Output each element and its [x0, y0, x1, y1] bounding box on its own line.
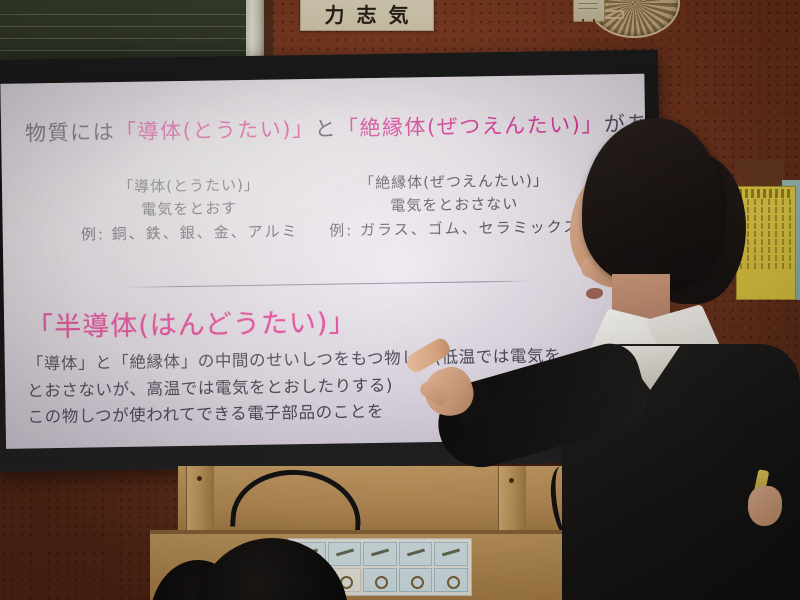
chart-row	[740, 231, 792, 237]
semiconductor-heading: 「半導体(はんどうたい)」	[26, 300, 357, 344]
chart-row	[740, 215, 792, 221]
cart-screw	[197, 476, 202, 481]
tool-icon	[335, 549, 353, 557]
chart-row	[740, 223, 792, 229]
chalk-line	[0, 14, 252, 15]
chart-row	[740, 263, 792, 269]
conductor-examples: 例: 銅、鉄、銀、金、アルミ	[65, 219, 315, 246]
column-conductor: 「導体(とうたい)」 電気をとおす 例: 銅、鉄、銀、金、アルミ	[64, 173, 315, 247]
posted-paper	[640, 508, 728, 558]
calligraphy-banner: 力 志 気	[300, 0, 434, 31]
title-keyword-insulator: 「絶縁体(ぜつえんたい)」	[337, 112, 604, 140]
circle-icon	[375, 576, 388, 589]
fan-control-box	[573, 0, 605, 22]
title-middle: と	[314, 117, 337, 141]
insulator-examples: 例: ガラス、ゴム、セラミックス	[315, 215, 595, 243]
title-prefix: 物質には	[25, 120, 115, 145]
picture-cell	[399, 542, 433, 566]
student-hand	[748, 486, 782, 526]
column-insulator: 「絶縁体(ぜつえんたい)」 電気をとおさない 例: ガラス、ゴム、セラミックス	[314, 169, 595, 243]
picture-cell	[434, 568, 468, 592]
classroom-photo: 力 志 気 物質には「導体(とうたい)」と「絶縁体(ぜつえんたい)」があります …	[0, 0, 800, 600]
chalk-line	[0, 26, 252, 27]
title-suffix: があります	[604, 111, 650, 137]
yellow-wall-chart	[736, 186, 796, 300]
slide-divider	[130, 281, 528, 288]
title-keyword-conductor: 「導体(とうたい)」	[115, 117, 315, 144]
display-screen: 物質には「導体(とうたい)」と「絶縁体(ぜつえんたい)」があります 「導体(とう…	[0, 74, 650, 449]
presentation-slide: 物質には「導体(とうたい)」と「絶縁体(ぜつえんたい)」があります 「導体(とう…	[0, 74, 650, 449]
chart-row	[740, 207, 792, 213]
picture-cell	[328, 542, 362, 566]
tool-icon	[371, 549, 389, 557]
picture-cell	[363, 568, 397, 592]
chart-row	[740, 255, 792, 261]
chalk-line	[0, 38, 252, 39]
banner-char-2: 志	[357, 0, 378, 28]
tool-icon	[442, 549, 460, 557]
chart-row	[740, 199, 792, 205]
banner-char-1: 力	[325, 0, 346, 28]
stamp-icon	[674, 523, 698, 547]
wall-panel-brown	[736, 160, 784, 188]
slide-title-line: 物質には「導体(とうたい)」と「絶縁体(ぜつえんたい)」があります	[25, 107, 650, 148]
chart-row	[740, 247, 792, 253]
banner-char-3: 気	[389, 0, 410, 28]
chalk-line	[0, 50, 252, 51]
picture-cell	[363, 542, 397, 566]
fan-control-lines	[578, 0, 598, 12]
tool-icon	[407, 549, 425, 557]
display-bezel: 物質には「導体(とうたい)」と「絶縁体(ぜつえんたい)」があります 「導体(とう…	[0, 50, 664, 472]
slide-body-text: 「導体」と「絶縁体」の中間のせいしつをもつ物しつ(低温では電気を とおさないが、…	[27, 342, 650, 432]
circle-icon	[447, 576, 460, 589]
chart-heading-line	[739, 189, 793, 198]
picture-cell	[399, 568, 433, 592]
circle-icon	[411, 576, 424, 589]
cart-screw	[509, 478, 514, 483]
picture-cell	[434, 542, 468, 566]
chart-row	[740, 239, 792, 245]
